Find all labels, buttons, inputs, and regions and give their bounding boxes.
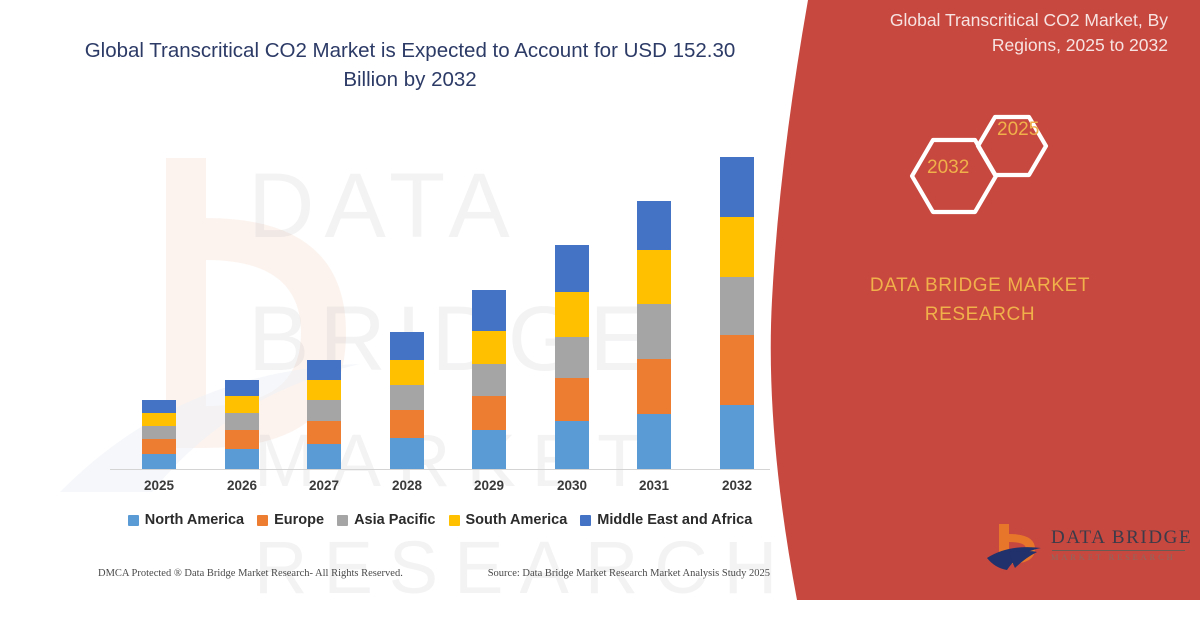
dbmr-logo-text: DATA BRIDGE MARKET RESEARCH [1051, 528, 1187, 562]
hexagon-group: 2032 2025 [900, 104, 1080, 244]
dbmr-logo-mark-icon [985, 522, 1047, 576]
bar-segment [225, 380, 259, 396]
bar-segment [390, 438, 424, 469]
bar-segment [225, 396, 259, 413]
x-axis-tick-2028: 2028 [372, 478, 442, 493]
bar-segment [637, 359, 671, 414]
footer-source-text: Source: Data Bridge Market Research Mark… [488, 568, 790, 579]
chart-title: Global Transcritical CO2 Market is Expec… [60, 36, 760, 94]
legend-swatch-icon [449, 515, 460, 526]
bar-segment [720, 157, 754, 217]
bar-segment [555, 378, 589, 421]
bar-segment [142, 400, 176, 413]
legend-label: Middle East and Africa [597, 512, 752, 528]
dbmr-logo-subtitle: MARKET RESEARCH [1051, 553, 1187, 562]
brand-panel: Global Transcritical CO2 Market, By Regi… [760, 0, 1200, 600]
chart-panel: DATA BRIDGE MARKET RESEARCH Global Trans… [0, 0, 810, 600]
bar-column-2032 [720, 157, 754, 469]
bar-segment [307, 421, 341, 444]
brand-panel-content: Global Transcritical CO2 Market, By Regi… [760, 0, 1200, 600]
legend-item-europe[interactable]: Europe [257, 512, 324, 528]
x-axis-tick-2031: 2031 [619, 478, 689, 493]
bar-segment [307, 360, 341, 380]
brand-name-line-1: DATA BRIDGE MARKET [800, 272, 1160, 301]
bar-segment [225, 430, 259, 449]
bar-segment [390, 332, 424, 360]
legend-item-asia-pacific[interactable]: Asia Pacific [337, 512, 435, 528]
legend-label: Asia Pacific [354, 512, 435, 528]
bar-column-2029 [472, 290, 506, 469]
hexagon-2032-shape [912, 140, 996, 212]
bar-segment [472, 290, 506, 331]
legend-label: South America [466, 512, 568, 528]
bar-column-2027 [307, 360, 341, 469]
bar-segment [472, 364, 506, 396]
bar-segment [555, 245, 589, 292]
x-axis-tick-2029: 2029 [454, 478, 524, 493]
chart-legend: North AmericaEuropeAsia PacificSouth Ame… [110, 512, 770, 528]
dbmr-logo-divider [1052, 550, 1185, 551]
bar-segment [307, 380, 341, 400]
legend-item-middle-east-and-africa[interactable]: Middle East and Africa [580, 512, 752, 528]
brand-name: DATA BRIDGE MARKET RESEARCH [800, 272, 1160, 329]
bar-segment [472, 396, 506, 430]
bar-segment [390, 410, 424, 438]
legend-swatch-icon [257, 515, 268, 526]
bar-segment [307, 400, 341, 421]
bar-segment [472, 331, 506, 364]
hexagon-2025-label: 2025 [997, 119, 1039, 141]
footer-dmca-text: DMCA Protected ® Data Bridge Market Rese… [60, 568, 403, 579]
x-axis-tick-2030: 2030 [537, 478, 607, 493]
bar-column-2030 [555, 245, 589, 469]
legend-swatch-icon [580, 515, 591, 526]
bar-column-2028 [390, 332, 424, 469]
bar-segment [555, 337, 589, 378]
legend-item-south-america[interactable]: South America [449, 512, 568, 528]
bar-segment [555, 421, 589, 469]
bar-segment [720, 217, 754, 277]
bar-segment [307, 444, 341, 469]
bar-segment [637, 250, 671, 304]
legend-swatch-icon [128, 515, 139, 526]
x-axis-tick-2025: 2025 [124, 478, 194, 493]
bar-segment [142, 413, 176, 426]
x-axis-tick-2027: 2027 [289, 478, 359, 493]
x-axis-tick-2026: 2026 [207, 478, 277, 493]
bar-segment [637, 414, 671, 469]
infographic-canvas: DATA BRIDGE MARKET RESEARCH Global Trans… [0, 0, 1200, 600]
bar-column-2026 [225, 380, 259, 469]
dbmr-logo-title: DATA BRIDGE [1051, 528, 1187, 547]
brand-name-line-2: RESEARCH [800, 301, 1160, 330]
bar-segment [720, 277, 754, 335]
x-axis-tick-2032: 2032 [702, 478, 772, 493]
bar-segment [555, 292, 589, 337]
bar-segment [142, 454, 176, 469]
brand-panel-title: Global Transcritical CO2 Market, By Regi… [838, 8, 1168, 59]
bar-segment [225, 413, 259, 430]
bar-column-2031 [637, 201, 671, 469]
x-axis-tick-labels: 20252026202720282029203020312032 [110, 478, 770, 498]
legend-label: Europe [274, 512, 324, 528]
bar-segment [142, 426, 176, 439]
bar-column-2025 [142, 400, 176, 469]
hexagon-2032-label: 2032 [927, 157, 969, 179]
dbmr-logo: DATA BRIDGE MARKET RESEARCH [985, 520, 1185, 580]
bar-segment [225, 449, 259, 469]
legend-label: North America [145, 512, 244, 528]
bar-segment [390, 385, 424, 410]
bar-segment [142, 439, 176, 454]
hexagon-2025-shape [978, 117, 1046, 175]
footer: DMCA Protected ® Data Bridge Market Rese… [60, 568, 790, 579]
bar-segment [390, 360, 424, 385]
brand-panel-shape [760, 0, 1200, 600]
legend-item-north-america[interactable]: North America [128, 512, 244, 528]
bar-segment [472, 430, 506, 469]
bar-segment [720, 405, 754, 469]
bar-segment [637, 304, 671, 359]
x-axis-line [110, 469, 770, 470]
bar-segment [720, 335, 754, 405]
chart-plot-area [110, 140, 770, 470]
legend-swatch-icon [337, 515, 348, 526]
bar-segment [637, 201, 671, 250]
